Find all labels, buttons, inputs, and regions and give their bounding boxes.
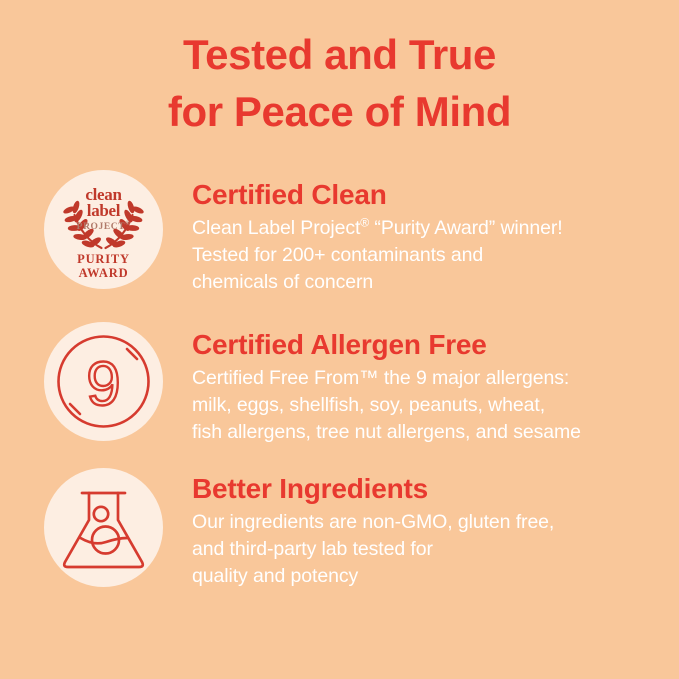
- feature-item-certified-clean: clean label PROJECT® PURITY AWARD Certif…: [0, 170, 679, 296]
- feature-body-line: fish allergens, tree nut allergens, and …: [192, 419, 679, 446]
- badge-award-line-2: AWARD: [44, 266, 163, 280]
- promo-card: Tested and True for Peace of Mind: [0, 0, 679, 679]
- feature-body-line: Tested for 200+ contaminants and: [192, 242, 679, 269]
- feature-text-block: Better Ingredients Our ingredients are n…: [163, 468, 679, 590]
- allergen-count-numeral: 9: [86, 350, 120, 419]
- page-title: Tested and True for Peace of Mind: [0, 26, 679, 140]
- laboratory-flask-icon: [44, 468, 163, 587]
- feature-body-line: Our ingredients are non-GMO, gluten free…: [192, 509, 679, 536]
- badge-word-project: PROJECT®: [44, 219, 163, 232]
- feature-item-certified-allergen-free: 9 9 Certified Allergen Free Certified Fr…: [0, 322, 679, 446]
- feature-body-line: Clean Label Project® “Purity Award” winn…: [192, 215, 679, 242]
- feature-body-line: and third-party lab tested for: [192, 536, 679, 563]
- feature-body: Clean Label Project® “Purity Award” winn…: [192, 215, 679, 296]
- feature-body-line: milk, eggs, shellfish, soy, peanuts, whe…: [192, 392, 679, 419]
- feature-title: Better Ingredients: [192, 472, 679, 506]
- page-title-line-2: for Peace of Mind: [0, 83, 679, 140]
- feature-body-line: chemicals of concern: [192, 269, 679, 296]
- feature-text-block: Certified Clean Clean Label Project® “Pu…: [163, 170, 679, 296]
- badge-award-line-1: PURITY: [44, 252, 163, 266]
- feature-body-line: Certified Free From™ the 9 major allerge…: [192, 365, 679, 392]
- feature-title: Certified Allergen Free: [192, 328, 679, 362]
- feature-item-better-ingredients: Better Ingredients Our ingredients are n…: [0, 468, 679, 590]
- registered-mark: ®: [360, 216, 369, 230]
- nine-allergens-prohibition-icon: 9 9: [44, 322, 163, 441]
- badge-word-label: label: [44, 203, 163, 219]
- feature-title: Certified Clean: [192, 178, 679, 212]
- feature-text-block: Certified Allergen Free Certified Free F…: [163, 322, 679, 446]
- feature-body: Certified Free From™ the 9 major allerge…: [192, 365, 679, 446]
- feature-body-line: quality and potency: [192, 563, 679, 590]
- page-title-line-1: Tested and True: [0, 26, 679, 83]
- clean-label-project-purity-award-badge-icon: clean label PROJECT® PURITY AWARD: [44, 170, 163, 289]
- feature-body: Our ingredients are non-GMO, gluten free…: [192, 509, 679, 590]
- feature-list: clean label PROJECT® PURITY AWARD Certif…: [0, 170, 679, 590]
